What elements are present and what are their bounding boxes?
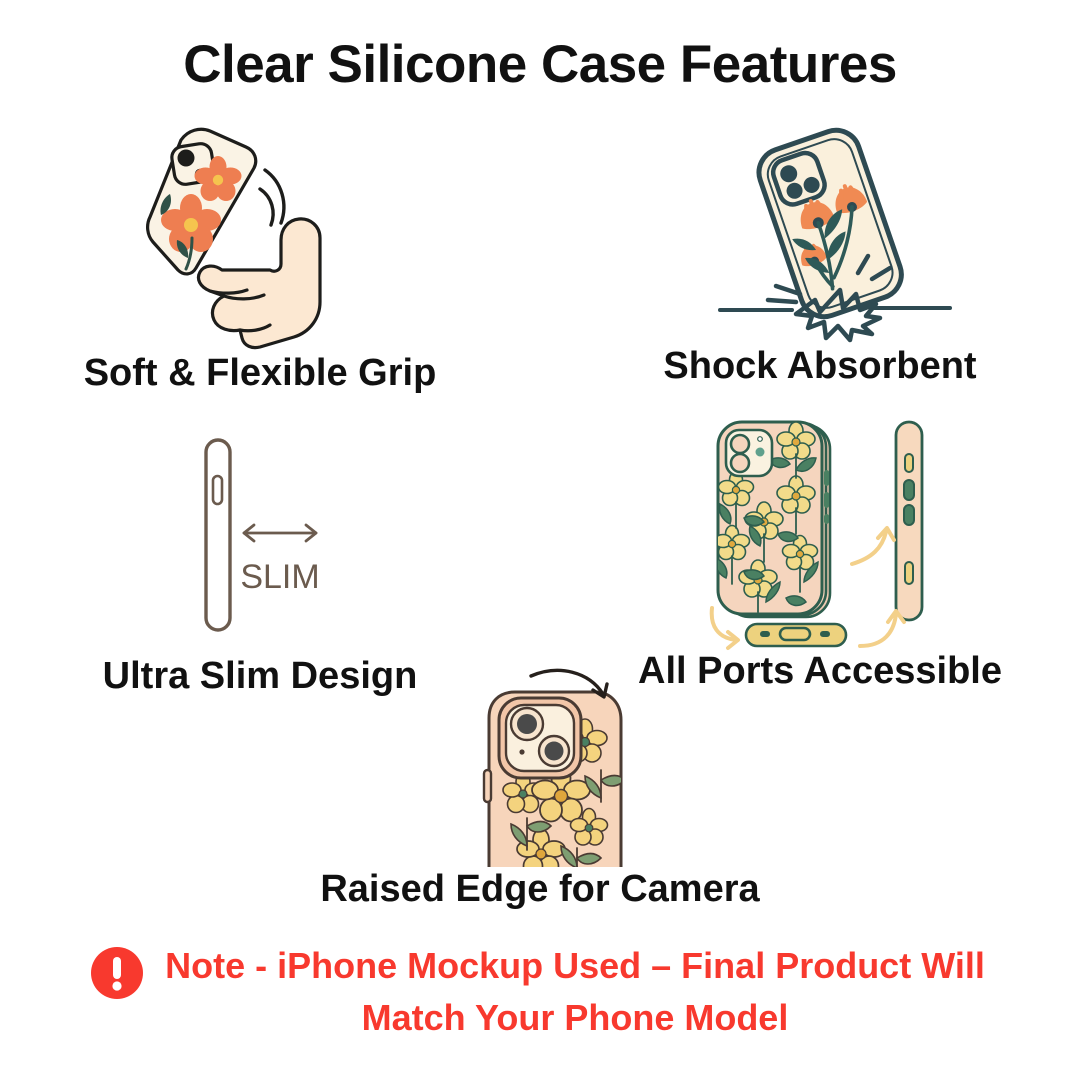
side-button-cutout	[484, 770, 491, 802]
illustration-ultra-slim-design: SLIM	[176, 428, 376, 643]
feature-label-shock-absorbent: Shock Absorbent	[560, 345, 1080, 388]
feature-label-soft-flexible-grip: Soft & Flexible Grip	[0, 352, 520, 395]
charging-port-cutout	[780, 628, 810, 640]
camera-lens	[545, 742, 564, 761]
camera-lens	[178, 150, 195, 167]
camera-module	[726, 430, 772, 476]
bottom-edge-ports	[746, 624, 846, 646]
exclamation-circle-icon	[90, 946, 144, 1004]
illustration-shock-absorbent	[700, 118, 970, 343]
speaker-cutout	[760, 631, 770, 637]
power-button-cutout	[905, 562, 913, 584]
illustration-raised-edge-for-camera	[455, 662, 655, 867]
illustration-soft-flexible-grip	[118, 118, 408, 350]
mute-switch-cutout	[905, 454, 913, 472]
camera-flash	[519, 749, 524, 754]
camera-lens	[517, 714, 537, 734]
note-banner: Note - iPhone Mockup Used – Final Produc…	[0, 940, 1080, 1044]
feature-label-ultra-slim-design: Ultra Slim Design	[0, 655, 520, 698]
width-arrow	[244, 525, 316, 541]
camera-flash	[756, 448, 765, 457]
camera-lens	[731, 435, 749, 453]
feature-label-raised-edge-for-camera: Raised Edge for Camera	[0, 868, 1080, 911]
slim-caption: SLIM	[240, 558, 319, 596]
phone-side-profile	[206, 440, 230, 630]
page-title: Clear Silicone Case Features	[0, 34, 1080, 95]
side-button	[213, 476, 222, 504]
raised-camera-bezel	[499, 698, 581, 778]
infographic-page: Clear Silicone Case Features	[0, 0, 1080, 1080]
phone-side-rail	[896, 422, 922, 620]
illustration-all-ports-accessible	[700, 412, 965, 657]
side-button-cutouts	[824, 470, 829, 524]
volume-up-cutout	[904, 480, 914, 500]
volume-down-cutout	[904, 505, 914, 525]
motion-arcs	[260, 170, 284, 225]
speaker-cutout	[820, 631, 830, 637]
note-text: Note - iPhone Mockup Used – Final Produc…	[160, 940, 990, 1044]
camera-lens	[731, 454, 749, 472]
